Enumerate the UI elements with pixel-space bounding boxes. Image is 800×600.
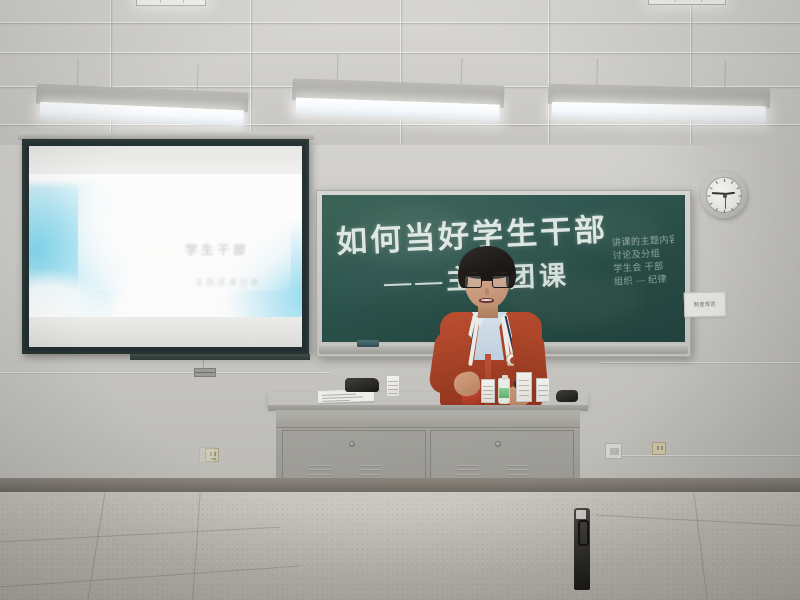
- louver-slat: [309, 474, 331, 476]
- wall-seam: [0, 372, 330, 373]
- podium-top-rail: [276, 410, 580, 428]
- louver-slat: [309, 469, 331, 471]
- louver-slat: [457, 469, 479, 471]
- ceiling: [0, 0, 800, 152]
- louver-slat: [507, 465, 529, 467]
- floor-texture: [0, 492, 800, 600]
- wall-mount-bracket: [194, 368, 216, 377]
- board-eraser[interactable]: [357, 340, 379, 347]
- fire-extinguisher-handle: [578, 520, 589, 546]
- screen-bottom-band: [29, 317, 302, 347]
- wall-notice-sign: 制度规范: [684, 291, 727, 317]
- recessed-panel-light: [648, 0, 726, 5]
- slide-subtitle: 主题团课分享: [171, 277, 286, 288]
- louver-slat: [359, 465, 381, 467]
- louver-slat: [507, 469, 529, 471]
- chalkboard-notes: 讲课的主题内容 讨论及分组 学生会 干部 组织 — 纪律: [612, 233, 677, 288]
- slide-content: 学生干部 主题团课分享: [29, 174, 302, 317]
- wall-outlet[interactable]: [652, 442, 666, 455]
- podium-lock[interactable]: [349, 441, 355, 447]
- projection-screen[interactable]: 学生干部 主题团课分享: [22, 139, 309, 354]
- mouth-highlight: [481, 299, 492, 301]
- camera-bag[interactable]: [345, 378, 379, 392]
- podium-lock[interactable]: [495, 441, 501, 447]
- wall-switch[interactable]: [199, 447, 215, 463]
- wall-notice-text: 制度规范: [685, 300, 725, 308]
- recessed-panel-light: [136, 0, 206, 6]
- louver-slat: [457, 465, 479, 467]
- screen-top-band: [29, 146, 302, 174]
- wall-seam: [620, 455, 800, 456]
- slide-title: 学生干部: [155, 241, 281, 258]
- louver-slat: [359, 469, 381, 471]
- louver-slat: [359, 474, 381, 476]
- louver-slat: [309, 465, 331, 467]
- clock-face: [706, 177, 742, 213]
- louver-slat: [457, 474, 479, 476]
- projection-screen-surface: 学生干部 主题团课分享: [29, 146, 302, 347]
- projector-glare: [78, 183, 291, 292]
- fire-extinguisher-label: [576, 510, 586, 519]
- wall-seam: [600, 362, 800, 363]
- ceiling-light-fixture: [35, 84, 248, 127]
- ceiling-light-fixture: [548, 84, 771, 123]
- bottle-cap: [502, 375, 508, 380]
- clock-center-pin: [723, 194, 727, 198]
- nose: [485, 288, 489, 295]
- ceiling-light-fixture: [291, 78, 504, 121]
- wall-clock: [701, 172, 747, 218]
- classroom-photo: 学生干部 主题团课分享 如何当好学生干部 ——主题团课 讲课的主题内容 讨论及分…: [0, 0, 800, 600]
- wall-switch-plate[interactable]: [605, 443, 622, 459]
- glasses-icon: [463, 275, 511, 288]
- louver-slat: [507, 474, 529, 476]
- screen-bottom-bar: [130, 354, 310, 360]
